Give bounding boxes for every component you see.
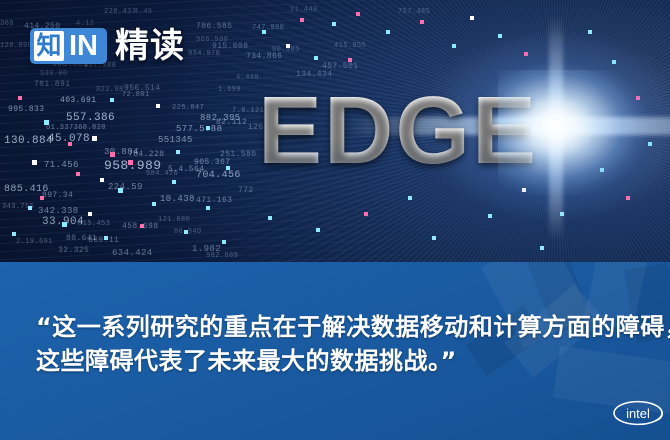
quote-text: “这一系列研究的重点在于解决数据移动和计算方面的障碍， 这些障碍代表了未来最大的… (36, 310, 644, 378)
hero-particle (140, 224, 144, 228)
edge-headline: EDGE (258, 83, 538, 179)
brand-logo[interactable]: 知 IN 精读 (30, 27, 185, 65)
hero-particle (76, 172, 80, 176)
hero-particle (300, 18, 304, 22)
hero-image: 403.69172.801995.833225.847557.386882.39… (0, 0, 670, 262)
poster-root: 403.69172.801995.833225.847557.386882.39… (0, 0, 670, 440)
hero-particle (206, 206, 210, 210)
brand-badge-zhi-glyph: 知 (34, 31, 64, 61)
hero-particle (314, 56, 318, 60)
hero-particle (386, 30, 390, 34)
hero-particle (176, 150, 180, 154)
hero-particle (92, 136, 97, 141)
hero-particle (316, 228, 320, 232)
hero-particle (62, 222, 67, 227)
hero-particle (420, 20, 424, 24)
hero-particle (184, 230, 188, 234)
hero-particle (408, 196, 412, 200)
brand-badge-in-text: IN (64, 31, 100, 61)
hero-particle (118, 188, 123, 193)
hero-particle (222, 240, 226, 244)
quote-line-2: 这些障碍代表了未来最大的数据挑战。” (36, 344, 644, 378)
hero-particle (470, 16, 474, 20)
intel-wordmark-text: intel (626, 406, 650, 421)
hero-particle (262, 30, 266, 34)
hero-particle (40, 196, 44, 200)
hero-particle (88, 212, 92, 216)
hero-particle (110, 152, 115, 157)
hero-particle (110, 98, 114, 102)
quote-band: “这一系列研究的重点在于解决数据移动和计算方面的障碍， 这些障碍代表了未来最大的… (0, 262, 670, 440)
hero-particle (268, 216, 272, 220)
hero-particle (156, 104, 160, 108)
hero-particle (364, 212, 368, 216)
hero-particle (356, 12, 360, 16)
hero-particle (226, 166, 230, 170)
hero-particle (128, 160, 133, 165)
hero-particle (540, 246, 544, 250)
hero-particle (348, 58, 352, 62)
hero-particle (286, 44, 290, 48)
hero-particle (152, 202, 156, 206)
brand-badge: 知 IN (30, 28, 107, 64)
hero-particle (28, 206, 32, 210)
hero-particle (100, 178, 104, 182)
hero-particle (104, 236, 108, 240)
hero-particle (44, 120, 49, 125)
hero-particle (172, 180, 176, 184)
hero-particle (432, 236, 436, 240)
hero-particle (32, 160, 37, 165)
hero-particle (68, 142, 72, 146)
hero-particle (12, 232, 16, 236)
hero-particle (332, 22, 336, 26)
intel-logo: intel (612, 400, 664, 426)
brand-name-text: 精读 (115, 27, 185, 65)
hero-particle (206, 126, 210, 130)
quote-line-1: “这一系列研究的重点在于解决数据移动和计算方面的障碍， (36, 310, 644, 344)
hero-particle (18, 96, 22, 100)
